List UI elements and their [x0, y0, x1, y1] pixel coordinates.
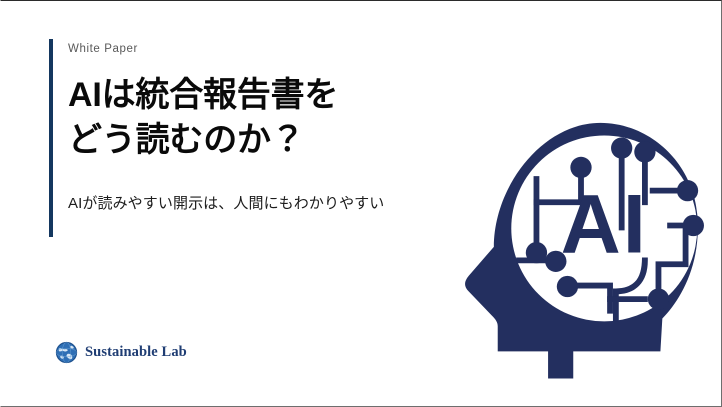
cover-text-block: White Paper AIは統合報告書を どう読むのか？ AIが読みやすい開示…: [68, 39, 488, 216]
whitepaper-cover-slide: White Paper AIは統合報告書を どう読むのか？ AIが読みやすい開示…: [0, 0, 722, 407]
globe-icon: [55, 341, 78, 364]
page-subtitle: AIが読みやすい開示は、人間にもわかりやすい: [68, 193, 488, 216]
accent-bar: [49, 39, 53, 237]
page-title: AIは統合報告書を どう読むのか？: [68, 73, 488, 163]
ai-head-circuit-illustration: AI: [455, 119, 707, 394]
page-title-line-2: どう読むのか？: [68, 118, 488, 163]
brand-logo: Sustainable Lab: [55, 341, 187, 364]
brand-wordmark: Sustainable Lab: [85, 345, 187, 360]
artwork-ai-label: AI: [561, 178, 648, 271]
page-title-line-1: AIは統合報告書を: [68, 73, 488, 118]
eyebrow-label: White Paper: [68, 43, 488, 57]
